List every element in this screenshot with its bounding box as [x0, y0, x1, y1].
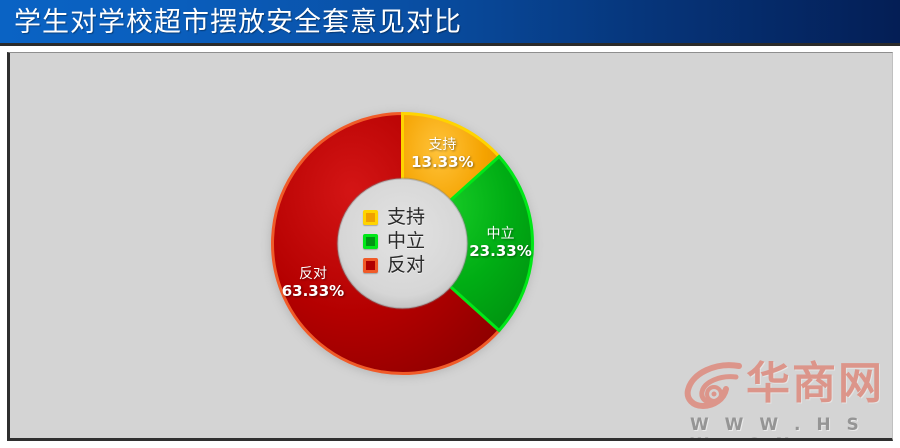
donut-chart: 支持 13.33% 中立 23.33% 反对 63.33% 支持 中立	[265, 106, 540, 381]
legend-label-neutral: 中立	[387, 231, 425, 252]
chart-legend: 支持 中立 反对	[363, 205, 447, 277]
legend-item-neutral[interactable]: 中立	[363, 229, 447, 253]
legend-swatch-oppose-icon	[363, 258, 378, 273]
title-bar: 学生对学校超市摆放安全套意见对比	[0, 0, 900, 46]
legend-item-oppose[interactable]: 反对	[363, 253, 447, 277]
watermark-url: W W W . H S W . C N	[690, 415, 893, 441]
legend-swatch-neutral-icon	[363, 234, 378, 249]
legend-label-support: 支持	[387, 207, 425, 228]
legend-item-support[interactable]: 支持	[363, 205, 447, 229]
legend-swatch-support-icon	[363, 210, 378, 225]
watermark: 华商网 W W W . H S W . C N	[684, 359, 893, 439]
chart-panel: 支持 13.33% 中立 23.33% 反对 63.33% 支持 中立	[7, 52, 893, 441]
screenshot-root: 学生对学校超市摆放安全套意见对比	[0, 0, 900, 448]
watermark-brand: 华商网	[746, 359, 884, 409]
watermark-logo: 华商网	[684, 359, 884, 409]
hsw-swoosh-icon	[684, 359, 744, 409]
page-title: 学生对学校超市摆放安全套意见对比	[14, 4, 462, 42]
legend-label-oppose: 反对	[387, 255, 425, 276]
